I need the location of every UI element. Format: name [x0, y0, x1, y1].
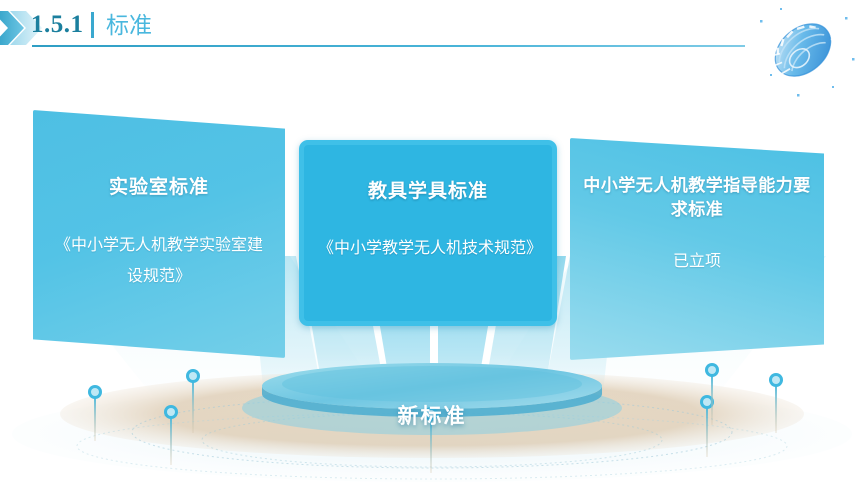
panel-title: 实验室标准	[33, 172, 285, 199]
panel-laboratory-standard[interactable]: 实验室标准 《中小学无人机教学实验室建设规范》	[33, 110, 285, 358]
panel-teaching-guidance-standard[interactable]: 中小学无人机教学指导能力要求标准 已立项	[570, 138, 824, 360]
tech-globe-decoration	[744, 0, 862, 102]
header-rule	[32, 45, 745, 47]
slide-stage: 实验室标准 《中小学无人机教学实验室建设规范》 教具学具标准 《中小学教学无人机…	[0, 0, 864, 483]
panel-teaching-aids-standard[interactable]: 教具学具标准 《中小学教学无人机技术规范》	[299, 140, 557, 326]
panel-subtitle: 《中小学教学无人机技术规范》	[318, 233, 538, 264]
panel-subtitle: 《中小学无人机教学实验室建设规范》	[49, 230, 269, 292]
page-title: 标准	[106, 11, 152, 39]
panel-subtitle: 已立项	[580, 248, 814, 276]
slide-header: 1.5.1 标准	[0, 0, 864, 56]
header-separator	[91, 12, 94, 38]
platform-label: 新标准	[0, 400, 864, 430]
panel-title: 教具学具标准	[304, 176, 552, 203]
section-number: 1.5.1	[31, 10, 84, 40]
panel-title: 中小学无人机教学指导能力要求标准	[578, 174, 816, 222]
